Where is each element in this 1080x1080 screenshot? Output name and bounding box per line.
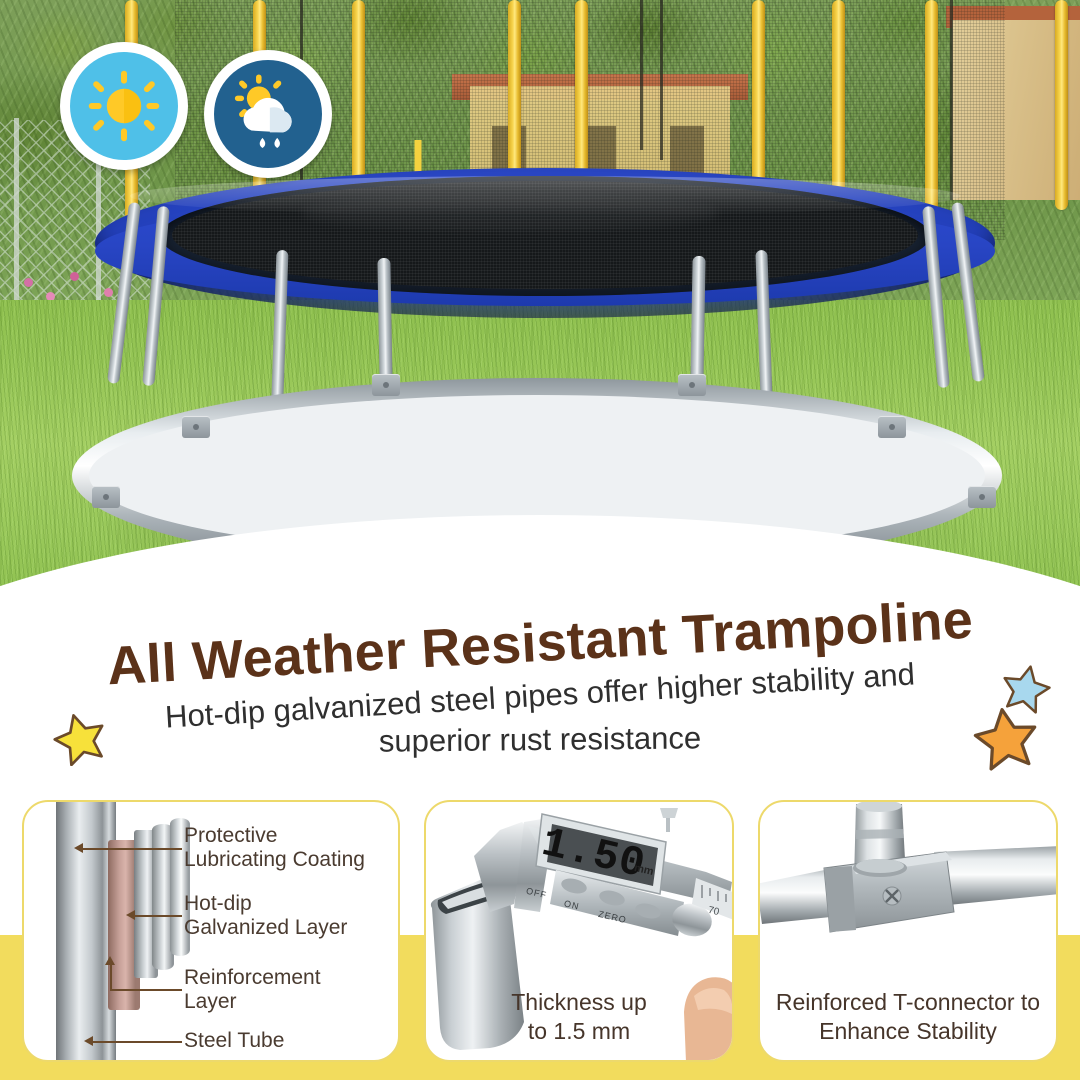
net-rope — [950, 0, 953, 200]
callout-line — [110, 989, 182, 991]
subtitle-line-2: superior rust resistance — [379, 720, 702, 759]
callout-label-line1: Protective — [184, 824, 365, 848]
star-decoration-bottom-right — [972, 704, 1040, 772]
frame-joint — [92, 486, 120, 508]
star-decoration-left — [52, 710, 108, 766]
callout-label-line1: Steel Tube — [184, 1029, 284, 1053]
net-pole — [1055, 0, 1068, 210]
rainy-weather-badge — [204, 50, 332, 178]
net-rope — [640, 0, 643, 150]
callout-arrow — [74, 843, 83, 853]
caption-line1: Thickness up — [426, 988, 732, 1017]
frame-joint — [878, 416, 906, 438]
net-rope — [660, 0, 663, 160]
headline-block: All Weather Resistant Trampoline Hot-dip… — [0, 600, 1080, 790]
product-infographic: All Weather Resistant Trampoline Hot-dip… — [0, 0, 1080, 1080]
caption-line1: Reinforced T-connector to — [760, 988, 1056, 1017]
callout-arrow — [126, 910, 135, 920]
callout-label-line2: Layer — [184, 990, 321, 1014]
pad-highlight — [130, 176, 960, 216]
callout-label-reinforcement-layer: Reinforcement Layer — [184, 966, 321, 1015]
sun-cloud-rain-icon — [214, 60, 322, 168]
callout-line — [82, 848, 182, 850]
thickness-panel: 1.50 mm OFF ON ZERO 70 Thickness up to 1… — [424, 800, 734, 1062]
caption-line2: to 1.5 mm — [426, 1017, 732, 1046]
callout-arrow — [84, 1036, 93, 1046]
callout-arrow — [105, 956, 115, 965]
callout-label-protective-lubricating-coating: Protective Lubricating Coating — [184, 824, 365, 873]
callout-line — [110, 964, 112, 990]
sun-icon — [70, 52, 178, 160]
callout-line — [134, 915, 182, 917]
callout-label-line1: Reinforcement — [184, 966, 321, 990]
t-connector-assembly — [758, 802, 1058, 992]
callout-label-line2: Lubricating Coating — [184, 848, 365, 872]
callout-label-line1: Hot-dip — [184, 892, 347, 916]
caption-line2: Enhance Stability — [760, 1017, 1056, 1046]
callout-line — [92, 1041, 182, 1043]
sunny-weather-badge — [60, 42, 188, 170]
frame-joint — [968, 486, 996, 508]
pipe-layer-panel: Protective Lubricating Coating Hot-dip G… — [22, 800, 400, 1062]
callout-label-hot-dip-galvanized-layer: Hot-dip Galvanized Layer — [184, 892, 347, 941]
thickness-caption: Thickness up to 1.5 mm — [426, 988, 732, 1045]
callout-label-line2: Galvanized Layer — [184, 916, 347, 940]
t-connector-panel: Reinforced T-connector to Enhance Stabil… — [758, 800, 1058, 1062]
callout-label-steel-tube: Steel Tube — [184, 1029, 284, 1053]
frame-joint — [678, 374, 706, 396]
frame-joint — [182, 416, 210, 438]
t-connector-caption: Reinforced T-connector to Enhance Stabil… — [760, 988, 1056, 1045]
frame-joint — [372, 374, 400, 396]
